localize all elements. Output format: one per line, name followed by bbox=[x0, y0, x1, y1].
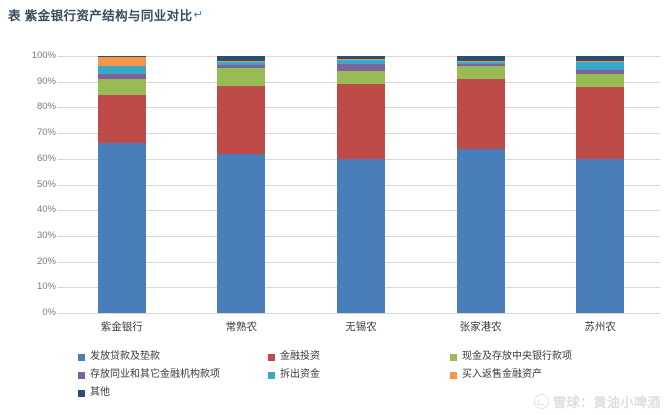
bar-segment[interactable] bbox=[457, 79, 505, 148]
bar-stack bbox=[576, 56, 624, 313]
x-tick-label: 常熟农 bbox=[182, 319, 302, 334]
bars-layer bbox=[62, 56, 660, 313]
bar-stack bbox=[457, 56, 505, 313]
legend-label: 现金及存放中央银行款项 bbox=[462, 351, 572, 363]
legend-swatch bbox=[78, 390, 85, 397]
legend-item[interactable]: 拆出资金 bbox=[268, 369, 320, 381]
bar-segment[interactable] bbox=[576, 62, 624, 70]
bar-group[interactable] bbox=[217, 56, 265, 313]
y-tick-label: 90% bbox=[10, 77, 56, 87]
bar-stack bbox=[217, 56, 265, 313]
bar-segment[interactable] bbox=[337, 84, 385, 159]
x-axis-line bbox=[62, 313, 660, 314]
legend-item[interactable]: 现金及存放中央银行款项 bbox=[450, 351, 572, 363]
legend-label: 存放同业和其它金融机构款项 bbox=[90, 369, 220, 381]
bar-segment[interactable] bbox=[98, 95, 146, 144]
y-tick-label: 30% bbox=[10, 231, 56, 241]
x-tick-label: 苏州农 bbox=[540, 319, 660, 334]
bar-segment[interactable] bbox=[457, 66, 505, 79]
bar-segment[interactable] bbox=[217, 68, 265, 86]
bar-segment[interactable] bbox=[217, 154, 265, 313]
bar-segment[interactable] bbox=[98, 79, 146, 94]
legend-item[interactable]: 买入返售金融资产 bbox=[450, 369, 542, 381]
bar-segment[interactable] bbox=[576, 159, 624, 313]
page-title: 表 紫金银行资产结构与同业对比 ↵ bbox=[8, 3, 508, 25]
y-tick-label: 100% bbox=[10, 51, 56, 61]
legend-item[interactable]: 其他 bbox=[78, 387, 110, 399]
bar-segment[interactable] bbox=[217, 86, 265, 154]
y-tick-label: 70% bbox=[10, 128, 56, 138]
bar-segment[interactable] bbox=[337, 71, 385, 84]
bar-group[interactable] bbox=[98, 56, 146, 313]
title-text: 表 紫金银行资产结构与同业对比 bbox=[8, 5, 192, 24]
x-tick-label: 无锡农 bbox=[301, 319, 421, 334]
legend-item[interactable]: 金融投资 bbox=[268, 351, 320, 363]
y-axis: 0%10%20%30%40%50%60%70%80%90%100% bbox=[8, 56, 56, 313]
legend-swatch bbox=[78, 372, 85, 379]
bar-segment[interactable] bbox=[337, 64, 385, 72]
chart-legend: 发放贷款及垫款金融投资现金及存放中央银行款项存放同业和其它金融机构款项拆出资金买… bbox=[0, 348, 669, 410]
legend-swatch bbox=[450, 354, 457, 361]
bar-group[interactable] bbox=[457, 56, 505, 313]
x-axis: 紫金银行常熟农无锡农张家港农苏州农 bbox=[62, 316, 660, 340]
bar-group[interactable] bbox=[576, 56, 624, 313]
legend-label: 买入返售金融资产 bbox=[462, 369, 542, 381]
bar-segment[interactable] bbox=[576, 87, 624, 159]
bar-segment[interactable] bbox=[98, 143, 146, 313]
bar-stack bbox=[98, 56, 146, 313]
legend-label: 其他 bbox=[90, 387, 110, 399]
y-tick-label: 0% bbox=[10, 308, 56, 318]
legend-label: 拆出资金 bbox=[280, 369, 320, 381]
legend-swatch bbox=[268, 354, 275, 361]
bar-segment[interactable] bbox=[98, 66, 146, 74]
pilcrow-mark: ↵ bbox=[193, 8, 202, 21]
y-tick-label: 80% bbox=[10, 102, 56, 112]
legend-swatch bbox=[450, 372, 457, 379]
y-tick-label: 10% bbox=[10, 282, 56, 292]
legend-item[interactable]: 存放同业和其它金融机构款项 bbox=[78, 369, 220, 381]
x-tick-label: 张家港农 bbox=[421, 319, 541, 334]
legend-label: 金融投资 bbox=[280, 351, 320, 363]
bar-segment[interactable] bbox=[457, 149, 505, 313]
bar-group[interactable] bbox=[337, 56, 385, 313]
bar-segment[interactable] bbox=[576, 74, 624, 87]
legend-swatch bbox=[268, 372, 275, 379]
y-tick-label: 20% bbox=[10, 257, 56, 267]
legend-swatch bbox=[78, 354, 85, 361]
y-tick-label: 60% bbox=[10, 154, 56, 164]
y-tick-label: 50% bbox=[10, 180, 56, 190]
x-tick-label: 紫金银行 bbox=[62, 319, 182, 334]
chart-screenshot: 表 紫金银行资产结构与同业对比 ↵ 0%10%20%30%40%50%60%70… bbox=[0, 0, 669, 415]
legend-item[interactable]: 发放贷款及垫款 bbox=[78, 351, 160, 363]
chart-canvas: 0%10%20%30%40%50%60%70%80%90%100% 紫金银行常熟… bbox=[0, 28, 669, 343]
bar-segment[interactable] bbox=[337, 159, 385, 313]
legend-label: 发放贷款及垫款 bbox=[90, 351, 160, 363]
bar-segment[interactable] bbox=[98, 57, 146, 66]
bar-stack bbox=[337, 56, 385, 313]
y-tick-label: 40% bbox=[10, 205, 56, 215]
